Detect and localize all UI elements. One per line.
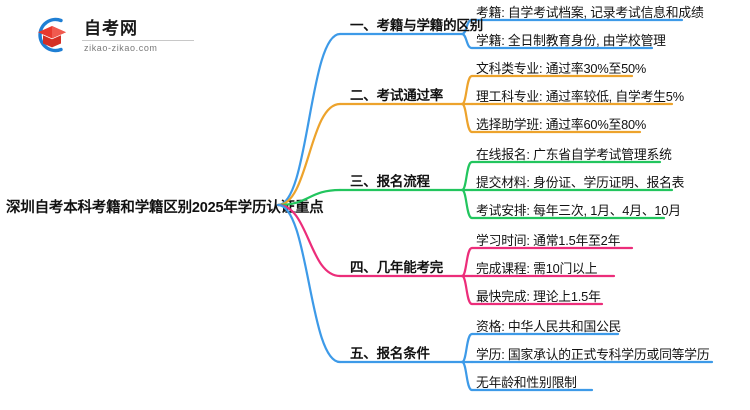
leaf-node-label[interactable]: 文科类专业: 通过率30%至50% xyxy=(476,58,646,77)
leaf-node-label[interactable]: 提交材料: 身份证、学历证明、报名表 xyxy=(476,172,684,191)
leaf-node-label[interactable]: 无年龄和性别限制 xyxy=(476,372,577,391)
leaf-node-label[interactable]: 资格: 中华人民共和国公民 xyxy=(476,316,621,335)
leaf-node-label[interactable]: 完成课程: 需10门以上 xyxy=(476,258,597,277)
graduation-cap-logo-icon xyxy=(30,13,74,57)
logo-divider xyxy=(82,40,194,41)
branch-node-label[interactable]: 三、报名流程 xyxy=(350,170,430,190)
logo-title: 自考网 xyxy=(82,20,194,37)
leaf-node-label[interactable]: 选择助学班: 通过率60%至80% xyxy=(476,114,646,133)
branch-node-label[interactable]: 四、几年能考完 xyxy=(350,256,443,276)
leaf-node-label[interactable]: 在线报名: 广东省自学考试管理系统 xyxy=(476,144,672,163)
leaf-node-label[interactable]: 理工科专业: 通过率较低, 自学考生5% xyxy=(476,86,684,105)
leaf-node-label[interactable]: 学习时间: 通常1.5年至2年 xyxy=(476,230,620,249)
leaf-node-label[interactable]: 学籍: 全日制教育身份, 由学校管理 xyxy=(476,30,666,49)
branch-node-label[interactable]: 五、报名条件 xyxy=(350,342,430,362)
leaf-node-label[interactable]: 学历: 国家承认的正式专科学历或同等学历 xyxy=(476,344,709,363)
branch-node-label[interactable]: 一、考籍与学籍的区别 xyxy=(350,14,483,34)
site-logo: 自考网 zikao-zikao.com xyxy=(30,12,230,58)
branch-node-label[interactable]: 二、考试通过率 xyxy=(350,84,443,104)
leaf-node-label[interactable]: 考试安排: 每年三次, 1月、4月、10月 xyxy=(476,200,681,219)
logo-text-block: 自考网 zikao-zikao.com xyxy=(82,18,194,53)
leaf-node-label[interactable]: 最快完成: 理论上1.5年 xyxy=(476,286,601,305)
leaf-node-label[interactable]: 考籍: 自学考试档案, 记录考试信息和成绩 xyxy=(476,2,704,21)
mindmap-root-title: 深圳自考本科考籍和学籍区别2025年学历认证重点 xyxy=(6,196,323,217)
logo-url: zikao-zikao.com xyxy=(82,44,194,53)
